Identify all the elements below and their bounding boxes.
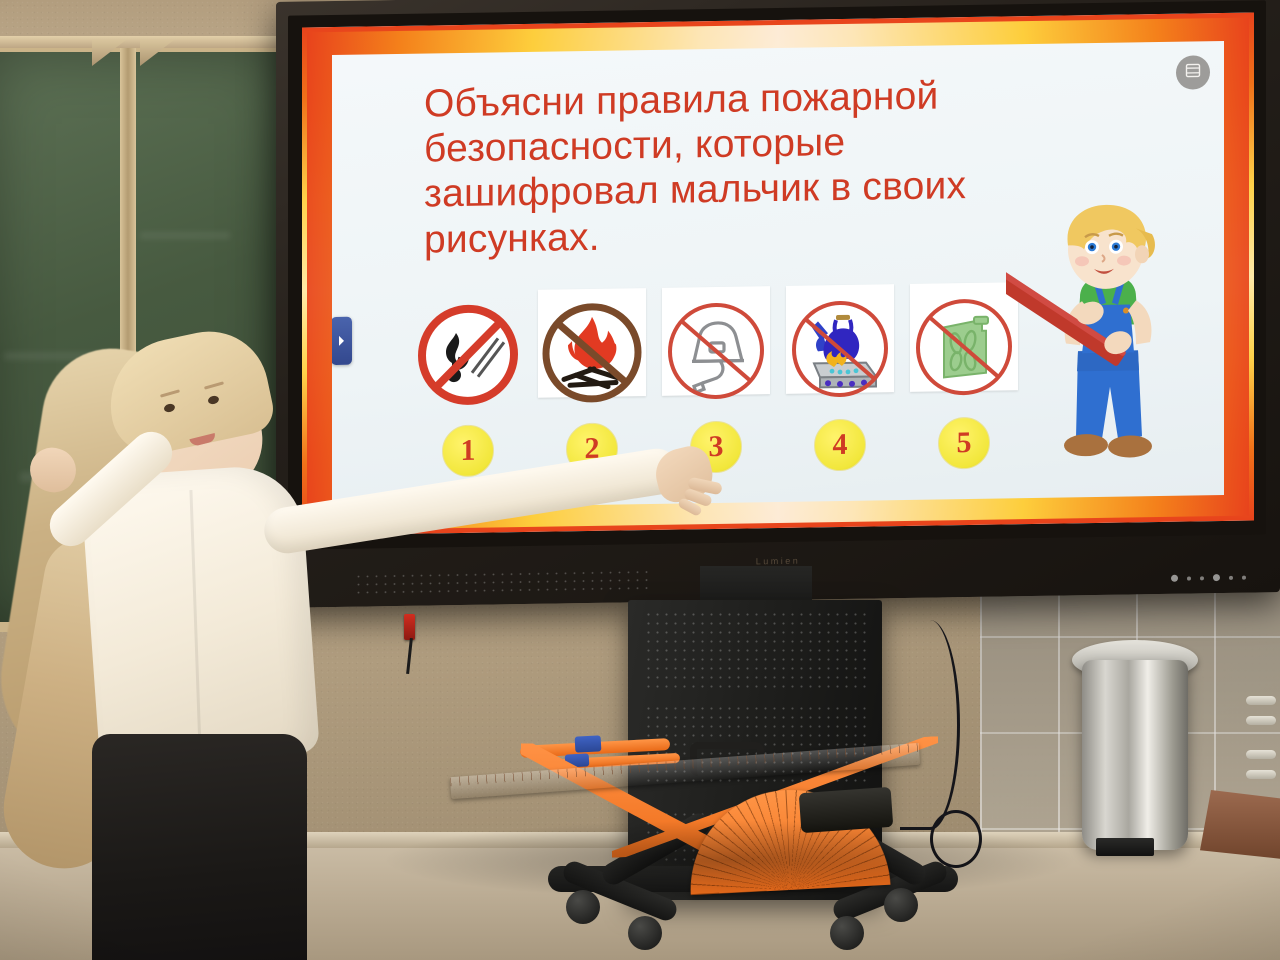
panel-overlay-button[interactable] [1176,55,1210,90]
cartoon-boy-illustration [1006,199,1206,492]
stand-caster[interactable] [830,916,864,950]
pictogram-row [412,290,1012,419]
pictogram-number-badge[interactable]: 5 [938,417,990,470]
pictogram-no-fuel-canister[interactable] [908,290,1020,404]
stand-caster[interactable] [628,916,662,950]
stand-vent-panel [644,610,868,688]
pictogram-no-iron[interactable] [660,294,772,408]
presentation-slide[interactable]: Объясни правила пожарной безопасности, к… [332,41,1224,509]
display-screen[interactable]: Объясни правила пожарной безопасности, к… [302,13,1254,536]
classroom-photo-scene: Объясни правила пожарной безопасности, к… [0,0,1280,960]
pictogram-no-campfire[interactable] [536,296,648,410]
pictogram-number-badge[interactable]: 4 [814,419,866,472]
stand-floor-shadow [380,820,1080,900]
no-canister-icon [908,290,1020,404]
power-cable [900,620,960,830]
book-panel-icon [1184,61,1202,84]
radiator-pipes [1240,690,1280,820]
student-girl [12,330,442,960]
no-campfire-icon [536,296,648,410]
slide-title: Объясни правила пожарной безопасности, к… [424,71,1084,262]
marker-pen-cap[interactable] [575,735,602,752]
trash-bin[interactable] [1082,660,1188,850]
pictogram-number-badge[interactable]: 1 [442,424,494,477]
display-brand-label: Lumien [756,556,801,567]
display-indicator-row[interactable] [1171,574,1246,582]
pictogram-no-kettle-on-stove[interactable] [784,292,896,406]
no-iron-icon [660,294,772,408]
trash-bin-pedal[interactable] [1096,838,1154,856]
no-kettle-icon [784,292,896,406]
trousers [92,734,307,960]
